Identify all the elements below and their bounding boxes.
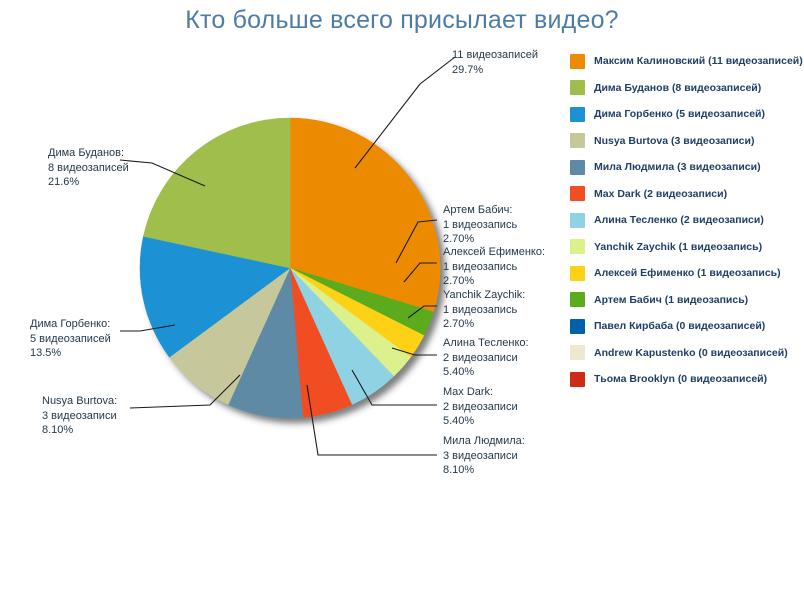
legend-item[interactable]: Павел Кирбаба (0 видеозаписей) bbox=[570, 313, 802, 340]
callout-nusya-burtova: Nusya Burtova: 3 видеозаписи 8.10% bbox=[42, 394, 117, 438]
legend-item-label: Алексей Ефименко (1 видеозапись) bbox=[594, 267, 781, 279]
legend-color-swatch-icon bbox=[570, 133, 585, 148]
legend-item[interactable]: Алина Тесленко (2 видеозаписи) bbox=[570, 207, 802, 234]
legend-color-swatch-icon bbox=[570, 80, 585, 95]
callout-count: 5 видеозаписей bbox=[30, 332, 111, 347]
legend-color-swatch-icon bbox=[570, 186, 585, 201]
legend-item-label: Тьома Brooklyn (0 видеозаписей) bbox=[594, 373, 767, 385]
legend-color-swatch-icon bbox=[570, 319, 585, 334]
callout-count: 3 видеозаписи bbox=[42, 409, 117, 424]
callout-percent: 2.70% bbox=[443, 232, 517, 247]
callout-max-dark: Max Dark: 2 видеозаписи 5.40% bbox=[443, 385, 518, 429]
legend-item[interactable]: Максим Калиновский (11 видеозаписей) bbox=[570, 48, 802, 75]
pie-slices-group bbox=[140, 118, 440, 418]
legend-item-label: Andrew Kapustenko (0 видеозаписей) bbox=[594, 347, 788, 359]
callout-yanchik-zaychik: Yanchik Zaychik: 1 видеозапись 2.70% bbox=[443, 288, 525, 332]
callout-name: Yanchik Zaychik: bbox=[443, 288, 525, 303]
callout-count: 2 видеозаписи bbox=[443, 351, 529, 366]
legend-item[interactable]: Andrew Kapustenko (0 видеозаписей) bbox=[570, 340, 802, 367]
legend-color-swatch-icon bbox=[570, 213, 585, 228]
callout-name: Мила Людмила: bbox=[443, 434, 525, 449]
legend-item[interactable]: Мила Людмила (3 видеозаписи) bbox=[570, 154, 802, 181]
legend-item[interactable]: Max Dark (2 видеозаписи) bbox=[570, 181, 802, 208]
legend-item[interactable]: Дима Горбенко (5 видеозаписей) bbox=[570, 101, 802, 128]
legend-item[interactable]: Yanchik Zaychik (1 видеозапись) bbox=[570, 234, 802, 261]
callout-count: 1 видеозапись bbox=[443, 260, 545, 275]
legend-item-label: Артем Бабич (1 видеозапись) bbox=[594, 294, 748, 306]
callout-percent: 2.70% bbox=[443, 317, 525, 332]
legend-color-swatch-icon bbox=[570, 107, 585, 122]
legend-item-label: Nusya Burtova (3 видеозаписи) bbox=[594, 135, 754, 147]
legend-item-label: Павел Кирбаба (0 видеозаписей) bbox=[594, 320, 765, 332]
callout-mila-lyudmila: Мила Людмила: 3 видеозаписи 8.10% bbox=[443, 434, 525, 478]
legend-item-label: Max Dark (2 видеозаписи) bbox=[594, 188, 727, 200]
legend-color-swatch-icon bbox=[570, 160, 585, 175]
legend-color-swatch-icon bbox=[570, 239, 585, 254]
callout-percent: 2.70% bbox=[443, 274, 545, 289]
callout-count: 3 видеозаписи bbox=[443, 449, 525, 464]
callout-percent: 13.5% bbox=[30, 346, 111, 361]
callout-dima-budanov: Дима Буданов: 8 видеозаписей 21.6% bbox=[48, 146, 129, 190]
legend-item[interactable]: Nusya Burtova (3 видеозаписи) bbox=[570, 128, 802, 155]
callout-count: 2 видеозаписи bbox=[443, 400, 518, 415]
callout-name: Алина Тесленко: bbox=[443, 336, 529, 351]
callout-percent: 8.10% bbox=[42, 423, 117, 438]
callout-maksim-kalinovskiy: 11 видеозаписей 29.7% bbox=[452, 48, 538, 77]
legend-item-label: Дима Горбенко (5 видеозаписей) bbox=[594, 108, 765, 120]
legend-item[interactable]: Дима Буданов (8 видеозаписей) bbox=[570, 75, 802, 102]
callout-percent: 29.7% bbox=[452, 63, 538, 78]
callout-count: 8 видеозаписей bbox=[48, 161, 129, 176]
legend-color-swatch-icon bbox=[570, 266, 585, 281]
legend-item-label: Мила Людмила (3 видеозаписи) bbox=[594, 161, 761, 173]
legend-item-label: Yanchik Zaychik (1 видеозапись) bbox=[594, 241, 762, 253]
legend-item[interactable]: Алексей Ефименко (1 видеозапись) bbox=[570, 260, 802, 287]
legend-item-label: Алина Тесленко (2 видеозаписи) bbox=[594, 214, 764, 226]
callout-name: Алексей Ефименко: bbox=[443, 245, 545, 260]
callout-name: Nusya Burtova: bbox=[42, 394, 117, 409]
legend-color-swatch-icon bbox=[570, 292, 585, 307]
legend-item[interactable]: Тьома Brooklyn (0 видеозаписей) bbox=[570, 366, 802, 393]
callout-percent: 8.10% bbox=[443, 463, 525, 478]
callout-name: Max Dark: bbox=[443, 385, 518, 400]
legend-item[interactable]: Артем Бабич (1 видеозапись) bbox=[570, 287, 802, 314]
legend-color-swatch-icon bbox=[570, 54, 585, 69]
callout-name: Артем Бабич: bbox=[443, 203, 517, 218]
callout-alina-teslenko: Алина Тесленко: 2 видеозаписи 5.40% bbox=[443, 336, 529, 380]
callout-percent: 5.40% bbox=[443, 414, 518, 429]
callout-aleksey-efimenko: Алексей Ефименко: 1 видеозапись 2.70% bbox=[443, 245, 545, 289]
callout-name: Дима Буданов: bbox=[48, 146, 129, 161]
callout-dima-gorbenko: Дима Горбенко: 5 видеозаписей 13.5% bbox=[30, 317, 111, 361]
callout-count: 11 видеозаписей bbox=[452, 48, 538, 63]
callout-percent: 21.6% bbox=[48, 175, 129, 190]
callout-count: 1 видеозапись bbox=[443, 303, 525, 318]
legend-item-label: Максим Калиновский (11 видеозаписей) bbox=[594, 55, 803, 67]
callout-name: Дима Горбенко: bbox=[30, 317, 111, 332]
callout-percent: 5.40% bbox=[443, 365, 529, 380]
legend-color-swatch-icon bbox=[570, 345, 585, 360]
chart-page: Кто больше всего присылает видео? bbox=[0, 0, 804, 604]
legend-color-swatch-icon bbox=[570, 372, 585, 387]
legend-item-label: Дима Буданов (8 видеозаписей) bbox=[594, 82, 761, 94]
chart-legend: Максим Калиновский (11 видеозаписей)Дима… bbox=[570, 48, 802, 393]
callout-artem-babich: Артем Бабич: 1 видеозапись 2.70% bbox=[443, 203, 517, 247]
callout-count: 1 видеозапись bbox=[443, 218, 517, 233]
